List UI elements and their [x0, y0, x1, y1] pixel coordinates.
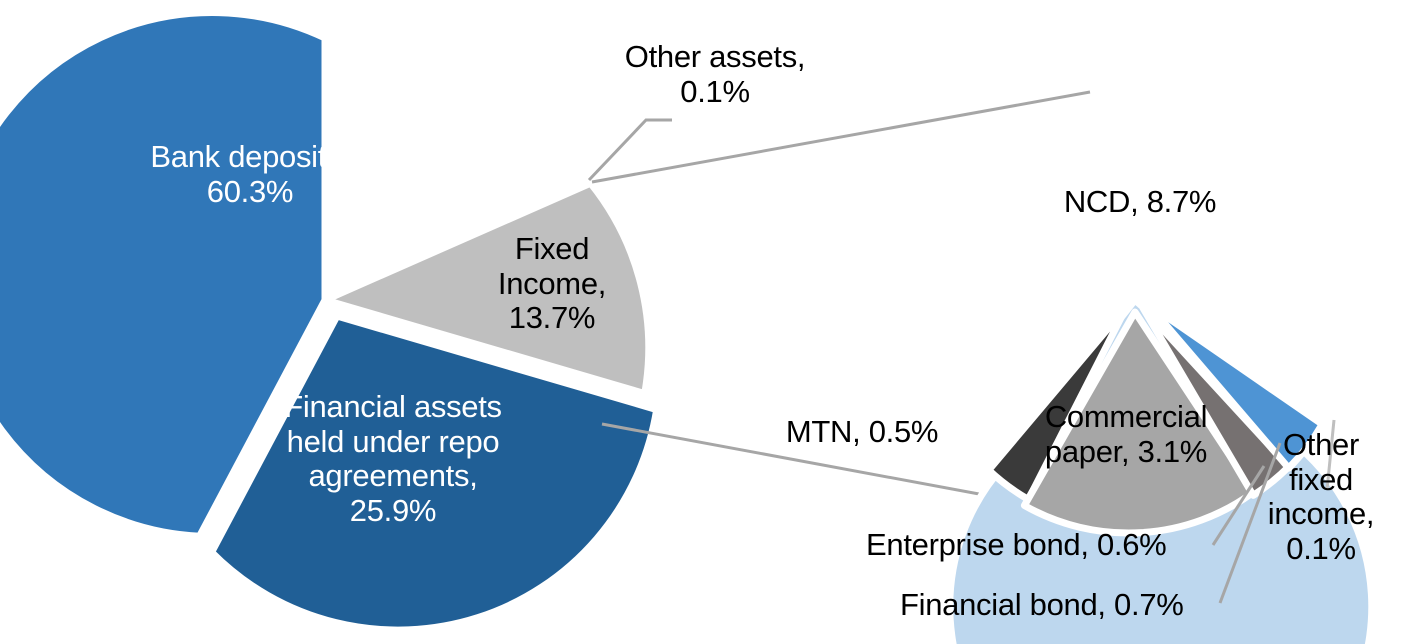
pie-chart-figure: Bank deposits, 60.3% Financial assets he… — [0, 0, 1404, 644]
label-ncd: NCD, 8.7% — [1030, 185, 1250, 220]
label-financial-bond: Financial bond, 0.7% — [900, 588, 1260, 623]
label-other-assets: Other assets, 0.1% — [590, 40, 840, 109]
label-enterprise-bond: Enterprise bond, 0.6% — [866, 528, 1226, 563]
label-bank-deposits: Bank deposits, 60.3% — [110, 140, 390, 209]
label-financial-assets-repo: Financial assets held under repo agreeme… — [248, 390, 538, 529]
label-mtn: MTN, 0.5% — [762, 415, 962, 450]
label-other-fixed-income: Other fixed income, 0.1% — [1256, 428, 1386, 567]
label-fixed-income: Fixed Income, 13.7% — [472, 232, 632, 336]
label-commercial-paper: Commercial paper, 3.1% — [1026, 400, 1226, 469]
